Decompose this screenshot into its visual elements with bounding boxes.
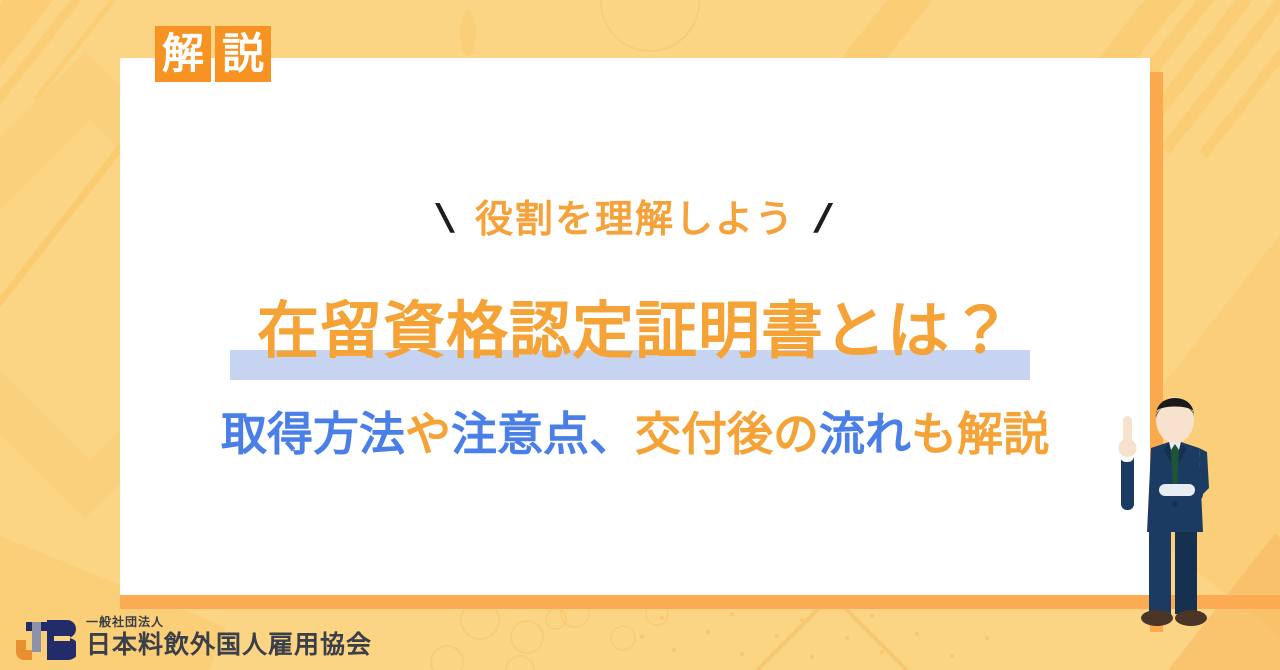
badge-char-1: 解	[155, 26, 211, 82]
subline-seg-1: 取得方法	[221, 408, 405, 460]
subline-seg-2: や	[405, 408, 451, 460]
category-badge: 解 説	[155, 26, 271, 82]
businessman-illustration	[1115, 392, 1235, 632]
kicker-text: 役割を理解しよう	[475, 199, 795, 241]
organization-logo: 一般社団法人 日本料飲外国人雇用協会	[14, 612, 372, 662]
logo-org-prefix: 一般社団法人	[86, 616, 372, 629]
kicker-line: \役割を理解しよう/	[120, 188, 1150, 243]
thumbnail-canvas: 解 説 \役割を理解しよう/ 在留資格認定証明書とは？ 取得方法や注意点、交付後…	[0, 0, 1280, 670]
subline-seg-4: 交付後の	[635, 408, 819, 460]
subline-seg-6: も解説	[911, 408, 1049, 460]
logo-org-name: 日本料飲外国人雇用協会	[86, 632, 372, 658]
panel-bottom-strip	[120, 595, 1280, 609]
badge-char-2: 説	[215, 26, 271, 82]
kicker-slash-left: \	[433, 197, 461, 242]
logo-mark-icon	[14, 612, 76, 662]
text-content: \役割を理解しよう/ 在留資格認定証明書とは？ 取得方法や注意点、交付後の流れも…	[120, 58, 1150, 595]
logo-text-block: 一般社団法人 日本料飲外国人雇用協会	[86, 616, 372, 658]
subline-seg-3: 注意点、	[451, 408, 635, 460]
subline-seg-5: 流れ	[819, 408, 911, 460]
kicker-slash-right: /	[810, 197, 838, 242]
subline: 取得方法や注意点、交付後の流れも解説	[120, 398, 1150, 464]
headline: 在留資格認定証明書とは？	[120, 280, 1150, 370]
